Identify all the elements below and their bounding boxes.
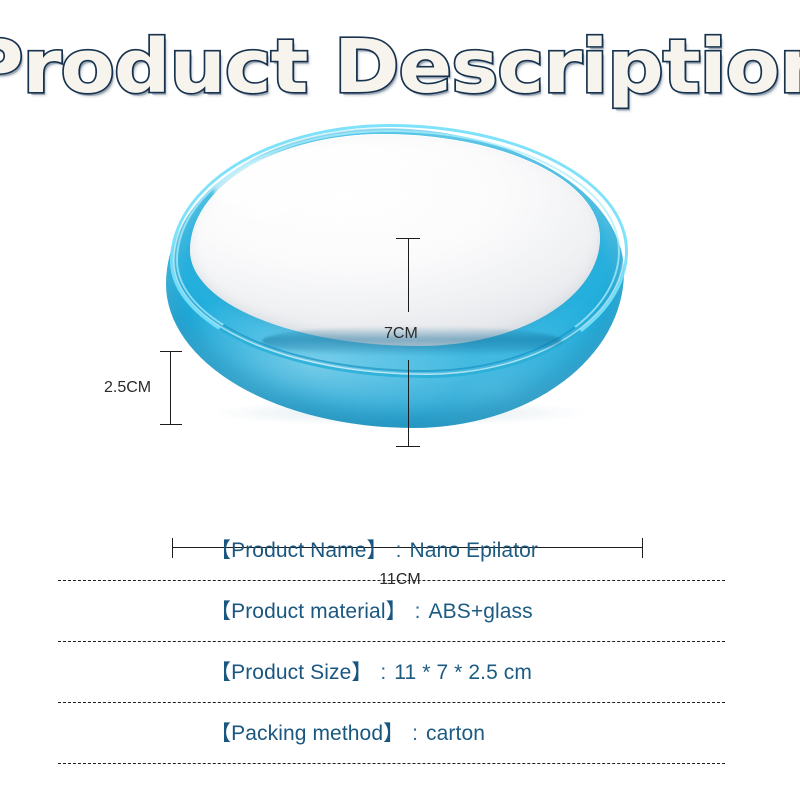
height-dimension-cap-bottom xyxy=(396,446,420,447)
spec-bracket-open: 【 xyxy=(210,661,231,684)
spec-value: Nano Epilator xyxy=(409,539,538,562)
height-dimension-line-upper xyxy=(408,238,409,312)
spec-key: Product Size xyxy=(231,661,351,684)
spec-bracket-close: 】 xyxy=(383,722,404,745)
spec-bracket-open: 【 xyxy=(210,600,231,623)
spec-key: Product Name xyxy=(231,539,366,562)
thickness-dimension-cap-top xyxy=(160,351,182,352)
spec-value: 11 * 7 * 2.5 cm xyxy=(394,661,532,684)
spec-key: Product material xyxy=(231,600,386,623)
spec-line: 【Product material】 : ABS+glass xyxy=(210,595,533,625)
spec-line: 【Product Name】 : Nano Epilator xyxy=(210,534,538,564)
spec-separator: : xyxy=(404,722,426,745)
spec-value: carton xyxy=(426,722,485,745)
thickness-dimension-label: 2.5CM xyxy=(104,379,151,397)
spec-line: 【Product Size】 : 11 * 7 * 2.5 cm xyxy=(210,656,532,686)
thickness-dimension-cap-bottom xyxy=(160,424,182,425)
spec-bracket-close: 】 xyxy=(386,600,407,623)
spec-line: 【Packing method】 : carton xyxy=(210,717,485,747)
spec-separator: : xyxy=(388,539,410,562)
thickness-dimension-line xyxy=(170,351,171,424)
spec-bracket-open: 【 xyxy=(210,539,231,562)
height-dimension-line-lower xyxy=(408,360,409,446)
page-title-banner: Product Description xyxy=(0,24,800,110)
spec-row: 【Product Name】 : Nano Epilator xyxy=(0,520,800,581)
spec-bracket-open: 【 xyxy=(210,722,231,745)
spec-bracket-close: 】 xyxy=(367,539,388,562)
product-spec-list: 【Product Name】 : Nano Epilator 【Product … xyxy=(0,520,800,764)
spec-separator: : xyxy=(407,600,429,623)
spec-divider xyxy=(58,763,725,764)
spec-row: 【Product material】 : ABS+glass xyxy=(0,581,800,642)
spec-separator: : xyxy=(372,661,394,684)
height-dimension-label: 7CM xyxy=(384,325,418,343)
spec-row: 【Packing method】 : carton xyxy=(0,703,800,764)
product-illustration: 7CM 2.5CM 11CM xyxy=(0,110,800,510)
spec-row: 【Product Size】 : 11 * 7 * 2.5 cm xyxy=(0,642,800,703)
product-description-page: Product Description 7CM 2.5CM 11CM 【Prod… xyxy=(0,0,800,800)
spec-bracket-close: 】 xyxy=(351,661,372,684)
spec-key: Packing method xyxy=(231,722,383,745)
spec-value: ABS+glass xyxy=(429,600,533,623)
page-title: Product Description xyxy=(0,30,800,104)
